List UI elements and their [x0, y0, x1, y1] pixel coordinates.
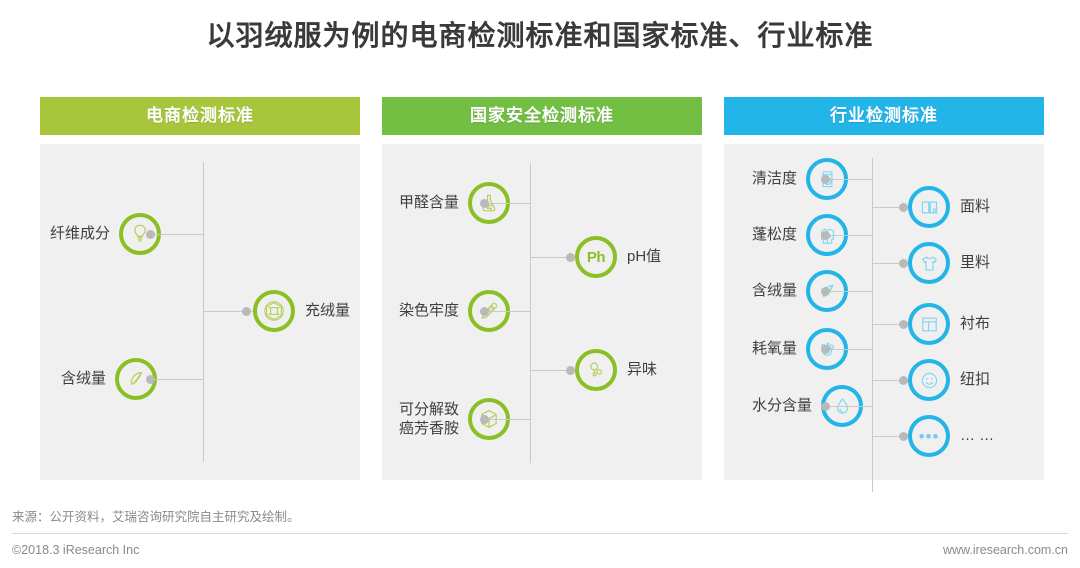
- column-header-industry: 行业检测标准: [724, 97, 1044, 135]
- source-note: 来源：公开资料，艾瑞咨询研究院自主研究及绘制。: [12, 506, 300, 525]
- node-label: 纤维成分: [50, 224, 110, 244]
- node-label: 甲醛含量: [399, 193, 459, 213]
- node-label: pH值: [627, 247, 661, 267]
- column-national-standard: 国家安全检测标准 甲醛含量 染色牢度: [382, 97, 702, 480]
- node-label: … …: [960, 426, 994, 446]
- ellipsis-glyph: •••: [919, 428, 940, 445]
- node-down-fill-weight[interactable]: 充绒量: [253, 290, 350, 332]
- column-header-ecommerce: 电商检测标准: [40, 97, 360, 135]
- node-label: 水分含量: [752, 396, 812, 416]
- tshirt-icon: [908, 242, 950, 284]
- node-label: 异味: [627, 360, 657, 380]
- button-smiley-icon: [908, 359, 950, 401]
- node-ph-value[interactable]: Ph pH值: [575, 236, 661, 278]
- column-body-ecommerce: 纤维成分 含绒量: [40, 144, 360, 480]
- connector-dot: [899, 203, 908, 212]
- node-lining[interactable]: 里料: [908, 242, 990, 284]
- connector-dot: [821, 402, 830, 411]
- connector-dot: [899, 320, 908, 329]
- spine-line-2: [530, 163, 531, 463]
- down-fill-coin-icon: [253, 290, 295, 332]
- node-odor[interactable]: 异味: [575, 349, 657, 391]
- fabric-book-icon: [908, 186, 950, 228]
- footer-divider: [12, 533, 1068, 534]
- connector-dot: [146, 375, 155, 384]
- node-fabric[interactable]: 面料: [908, 186, 990, 228]
- connector-line: [487, 419, 531, 420]
- connector-dot: [566, 253, 575, 262]
- interlining-panel-icon: [908, 303, 950, 345]
- node-label: 纽扣: [960, 370, 990, 390]
- connector-line: [828, 291, 873, 292]
- standards-columns: 电商检测标准 纤维成分 含绒量: [40, 97, 1044, 480]
- ph-icon: Ph: [575, 236, 617, 278]
- ellipsis-icon: •••: [908, 415, 950, 457]
- connector-dot: [242, 307, 251, 316]
- node-label: 耗氧量: [752, 339, 797, 359]
- node-fiber-composition[interactable]: 纤维成分: [50, 213, 161, 255]
- column-body-industry: 清洁度 蓬松度: [724, 144, 1044, 480]
- node-label: 含绒量: [752, 281, 797, 301]
- connector-line: [153, 234, 204, 235]
- copyright-text: ©2018.3 iResearch Inc: [12, 543, 139, 557]
- connector-line: [828, 235, 873, 236]
- connector-line: [828, 179, 873, 180]
- ph-label: Ph: [587, 249, 605, 266]
- node-label: 衬布: [960, 314, 990, 334]
- connector-dot: [566, 366, 575, 375]
- connector-dot: [821, 175, 830, 184]
- connector-dot: [480, 199, 489, 208]
- node-label: 充绒量: [305, 301, 350, 321]
- connector-dot: [821, 287, 830, 296]
- node-label: 面料: [960, 197, 990, 217]
- column-header-national: 国家安全检测标准: [382, 97, 702, 135]
- node-label: 蓬松度: [752, 225, 797, 245]
- connector-dot: [899, 432, 908, 441]
- connector-line: [487, 311, 531, 312]
- connector-dot: [146, 230, 155, 239]
- connector-dot: [821, 345, 830, 354]
- molecule-icon: [575, 349, 617, 391]
- node-label: 含绒量: [61, 369, 106, 389]
- connector-dot: [480, 415, 489, 424]
- connector-dot: [899, 376, 908, 385]
- column-ecommerce-standard: 电商检测标准 纤维成分 含绒量: [40, 97, 360, 480]
- column-industry-standard: 行业检测标准 清洁度 蓬松度: [724, 97, 1044, 480]
- connector-dot: [821, 231, 830, 240]
- node-label: 里料: [960, 253, 990, 273]
- node-label: 染色牢度: [399, 301, 459, 321]
- connector-line: [828, 349, 873, 350]
- node-down-content[interactable]: 含绒量: [61, 358, 157, 400]
- node-label: 清洁度: [752, 169, 797, 189]
- connector-line: [487, 203, 531, 204]
- connector-line: [828, 406, 873, 407]
- column-body-national: 甲醛含量 染色牢度: [382, 144, 702, 480]
- website-link[interactable]: www.iresearch.com.cn: [943, 543, 1068, 557]
- spine-line-3: [872, 158, 873, 492]
- connector-dot: [480, 307, 489, 316]
- node-more[interactable]: ••• … …: [908, 415, 994, 457]
- node-label: 可分解致癌芳香胺: [399, 400, 459, 439]
- node-button[interactable]: 纽扣: [908, 359, 990, 401]
- spine-line-1: [203, 162, 204, 462]
- node-interlining[interactable]: 衬布: [908, 303, 990, 345]
- connector-line: [153, 379, 204, 380]
- page-title: 以羽绒服为例的电商检测标准和国家标准、行业标准: [0, 14, 1080, 54]
- connector-dot: [899, 259, 908, 268]
